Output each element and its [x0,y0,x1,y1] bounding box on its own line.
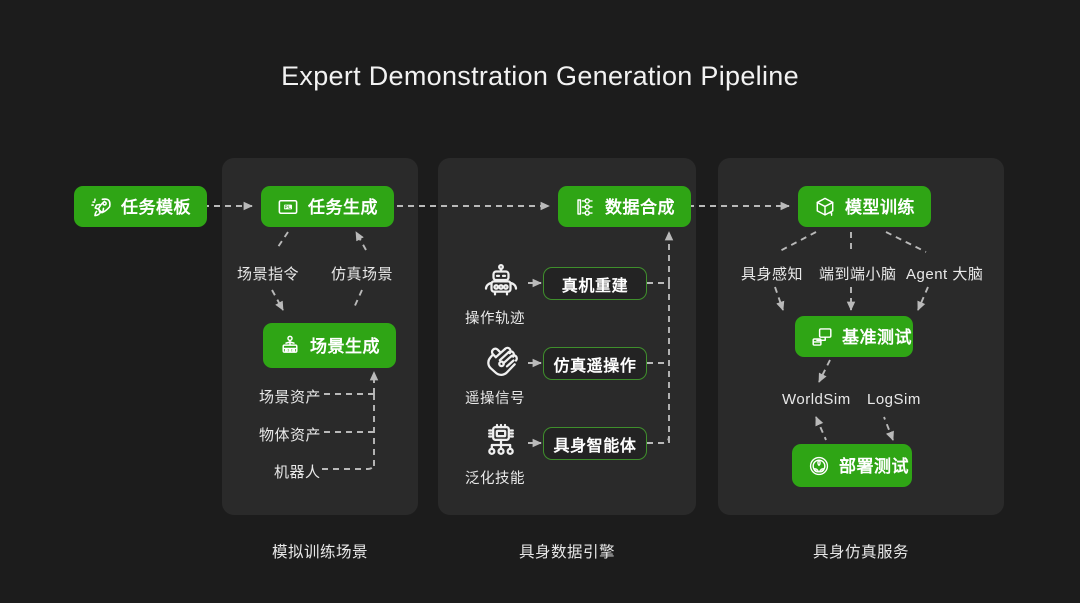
label-scene-instruction: 场景指令 [237,263,299,284]
box-real-machine-reconstruction[interactable]: 真机重建 [543,267,647,300]
svg-text:PL: PL [285,204,292,210]
badge-data-synthesis[interactable]: 数据合成 [558,186,691,227]
label-generalization-skills: 泛化技能 [465,467,525,488]
globe-icon [808,455,830,477]
badge-deployment-test[interactable]: 部署测试 [792,444,912,487]
scene-robot-icon [279,335,301,357]
badge-task-template[interactable]: 任务模板 [74,186,207,227]
label-object-assets: 物体资产 [259,424,321,445]
badge-label: 场景生成 [310,338,380,355]
label-agent-brain: Agent 大脑 [906,263,983,284]
page-title: Expert Demonstration Generation Pipeline [0,61,1080,92]
badge-label: 任务模板 [121,199,191,216]
label-end-to-end-cerebellum: 端到端小脑 [819,263,897,284]
pl-frame-icon: PL [277,196,299,218]
badge-label: 模型训练 [845,199,915,216]
label-logsim: LogSim [867,391,921,408]
diagram-canvas: Expert Demonstration Generation Pipeline [0,0,1080,603]
caption-simulation-service: 具身仿真服务 [718,540,1004,562]
badge-task-generation[interactable]: PL 任务生成 [261,186,394,227]
label-operation-trajectory: 操作轨迹 [465,307,525,328]
badge-label: 基准测试 [842,329,912,346]
badge-label: 数据合成 [605,199,675,216]
label-teleoperation-signal: 遥操信号 [465,387,525,408]
label-simulation-scene: 仿真场景 [331,263,393,284]
chip-icon [481,422,521,462]
label-worldsim: WorldSim [782,391,851,408]
robot-icon [481,262,521,302]
box-simulated-teleoperation[interactable]: 仿真遥操作 [543,347,647,380]
data-sync-icon [574,196,596,218]
box-embodied-agent[interactable]: 具身智能体 [543,427,647,460]
caption-data-engine: 具身数据引擎 [438,540,696,562]
badge-scene-generation[interactable]: 场景生成 [263,323,396,368]
label-embodied-perception: 具身感知 [741,263,803,284]
label-robot: 机器人 [274,461,321,482]
caption-simulation-training: 模拟训练场景 [222,540,418,562]
badge-benchmark-test[interactable]: 基准测试 [795,316,913,357]
rocket-icon [90,196,112,218]
badge-label: 部署测试 [839,458,909,475]
badge-label: 任务生成 [308,199,378,216]
glove-icon [481,342,521,382]
badge-model-training[interactable]: 模型训练 [798,186,931,227]
label-scene-assets: 场景资产 [259,386,321,407]
cube-refresh-icon [814,196,836,218]
monitor-icon [811,326,833,348]
